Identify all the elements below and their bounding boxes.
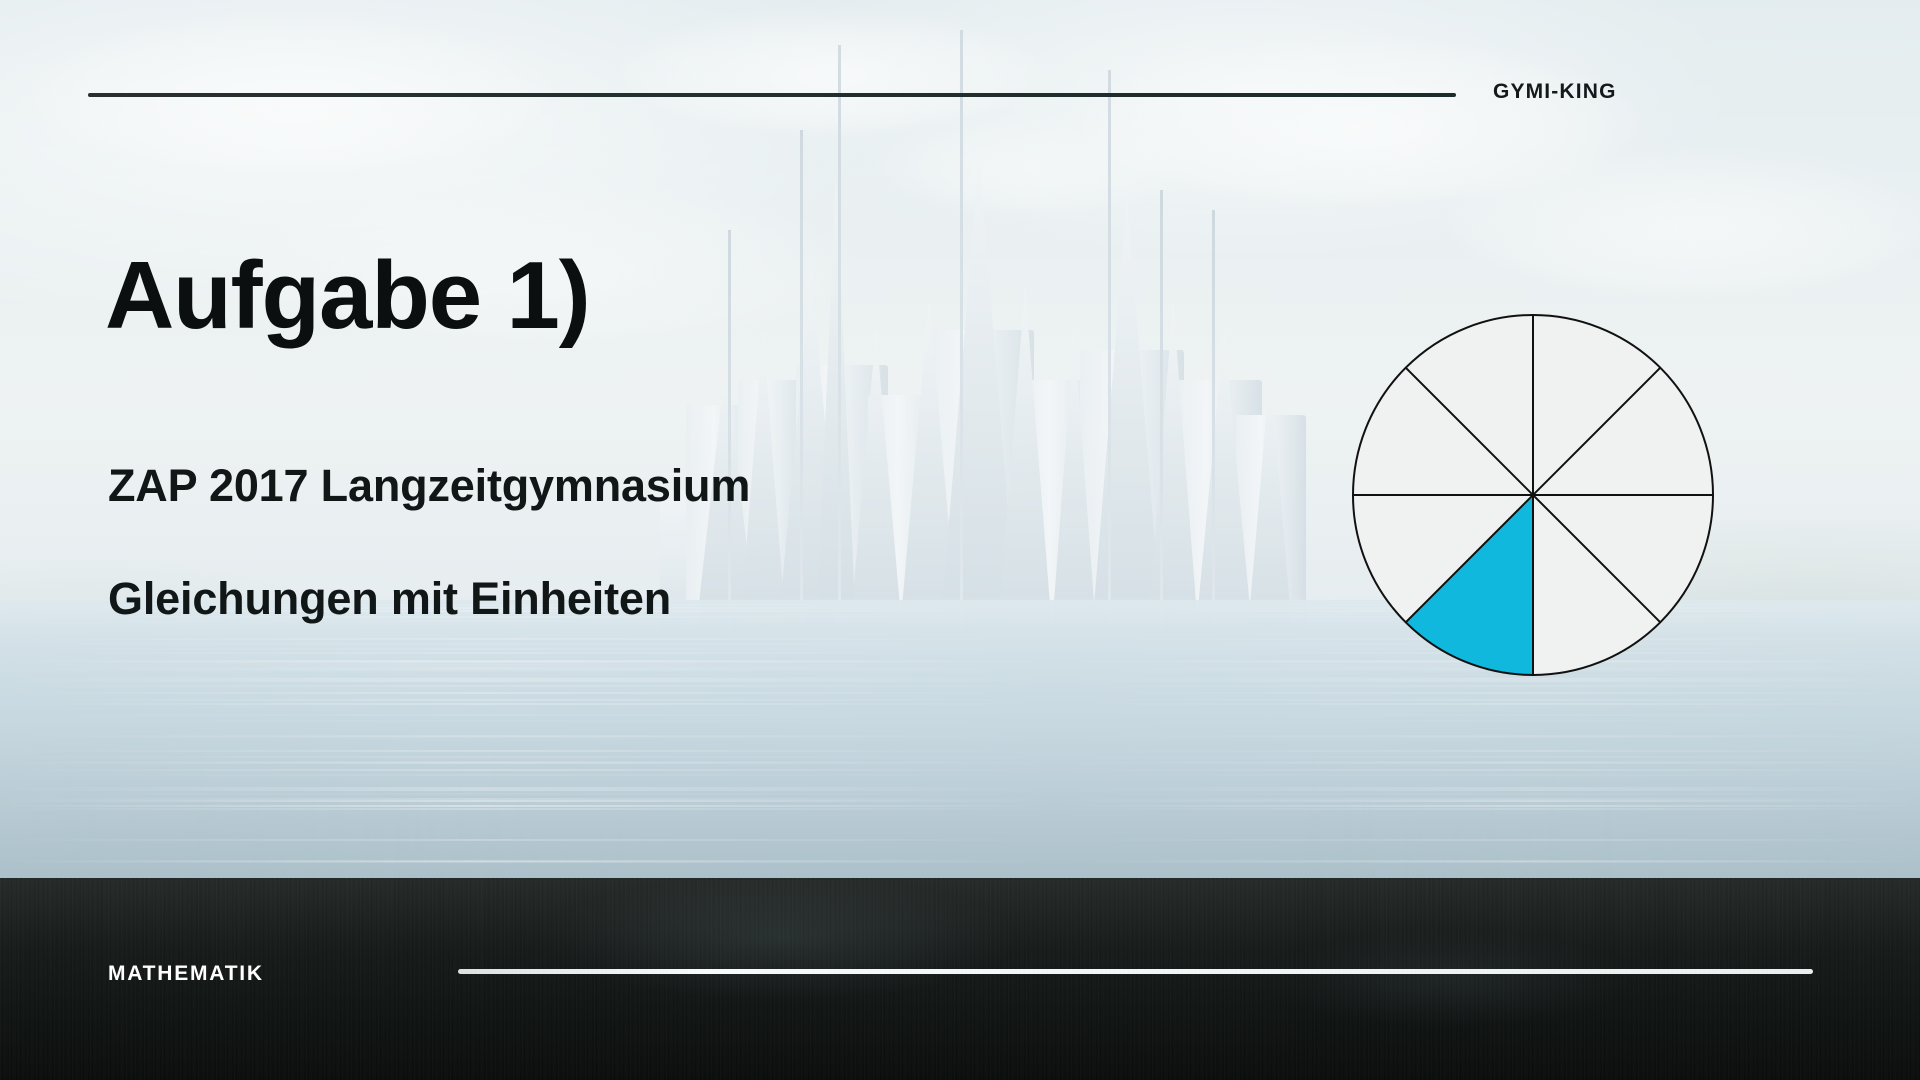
subtitle-topic: Gleichungen mit Einheiten: [108, 576, 671, 621]
bottom-divider-rule: [458, 969, 1813, 974]
slide-canvas: GYMI-KING Aufgabe 1) ZAP 2017 Langzeitgy…: [0, 0, 1920, 1080]
footer-band: [0, 878, 1920, 1080]
castle-silhouette: [600, 10, 1340, 630]
pie-chart: [1352, 314, 1714, 676]
cloud-shape: [1450, 150, 1920, 290]
footer-subject-label: MATHEMATIK: [108, 962, 264, 986]
footer-texture: [0, 878, 1920, 1080]
pie-spoke-group: [1353, 315, 1713, 675]
top-divider-rule: [88, 93, 1456, 97]
pie-chart-svg: [1352, 314, 1714, 676]
brand-label: GYMI-KING: [1493, 80, 1617, 104]
subtitle-exam-source: ZAP 2017 Langzeitgymnasium: [108, 463, 750, 508]
page-title: Aufgabe 1): [105, 248, 590, 344]
